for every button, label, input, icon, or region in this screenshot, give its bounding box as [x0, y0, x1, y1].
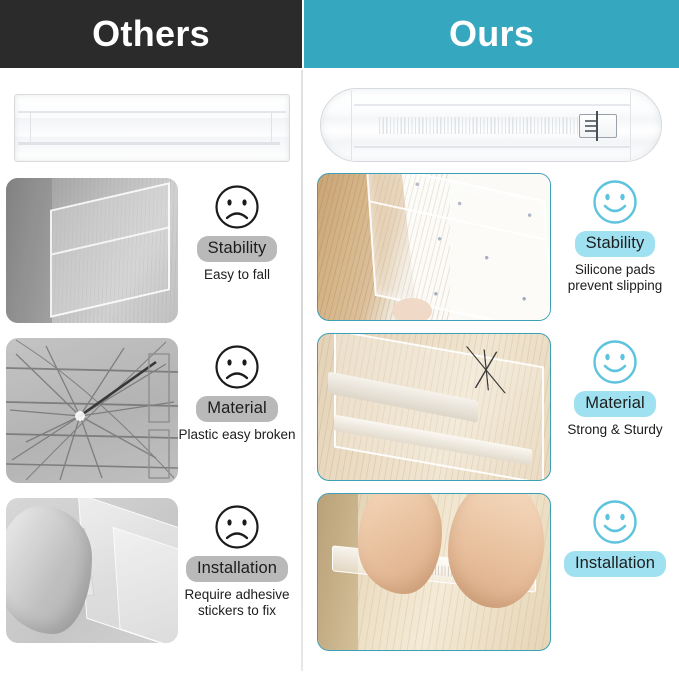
ours-material-badge: Material — [574, 391, 656, 417]
sad-face-icon — [214, 184, 260, 230]
divider-bottom-edge — [354, 146, 630, 148]
drawer-edge — [6, 178, 52, 323]
divider-ridges — [379, 117, 609, 134]
divider-right-cap — [630, 91, 631, 160]
ours-material-photo — [317, 333, 551, 481]
ours-installation-photo — [317, 493, 551, 651]
hand-grayscale — [6, 506, 92, 634]
others-hero-product-image — [14, 82, 290, 172]
header-others-title: Others — [92, 13, 210, 55]
divider-top-edge — [354, 104, 630, 106]
clear-divider — [366, 173, 551, 321]
others-stability-labels: Stability Easy to fall — [178, 178, 296, 283]
ours-stability-subtitle: Silicone pads prevent slipping — [553, 262, 677, 294]
ours-installation-labels: Installation — [553, 493, 677, 582]
crack-lines — [6, 338, 178, 483]
rounded-divider-illustration — [320, 88, 662, 162]
flat-divider-illustration — [14, 94, 290, 162]
ours-column: Stability Silicone pads prevent slipping — [303, 68, 679, 679]
flat-divider-left-segment — [19, 113, 31, 143]
sad-face-icon — [214, 344, 260, 390]
ours-material-subtitle: Strong & Sturdy — [553, 422, 677, 438]
others-installation-labels: Installation Require adhesive stickers t… — [178, 498, 296, 619]
ours-installation-badge: Installation — [564, 551, 666, 577]
ours-feature-row-installation: Installation — [303, 493, 677, 651]
smiley-face-icon — [592, 179, 638, 225]
sad-face-icon — [214, 504, 260, 550]
others-feature-row-installation: Installation Require adhesive stickers t… — [0, 498, 296, 643]
others-material-photo — [6, 338, 178, 483]
others-column: Stability Easy to fall — [0, 68, 301, 679]
divider-wall — [50, 182, 170, 318]
others-stability-photo — [6, 178, 178, 323]
others-feature-row-material: Material Plastic easy broken — [0, 338, 296, 483]
others-stability-badge: Stability — [197, 236, 278, 262]
silicone-pad — [392, 298, 432, 321]
others-stability-subtitle: Easy to fall — [178, 267, 296, 283]
ours-feature-row-stability: Stability Silicone pads prevent slipping — [303, 173, 677, 321]
others-installation-subtitle: Require adhesive stickers to fix — [178, 587, 296, 619]
others-installation-badge: Installation — [186, 556, 288, 582]
others-material-labels: Material Plastic easy broken — [178, 338, 296, 443]
others-feature-row-stability: Stability Easy to fall — [0, 178, 296, 323]
header-ours-title: Ours — [449, 13, 534, 55]
ours-material-labels: Material Strong & Sturdy — [553, 333, 677, 438]
others-material-badge: Material — [196, 396, 278, 422]
comparison-header: Others Ours — [0, 0, 679, 68]
divider-left-cap — [351, 91, 352, 160]
comparison-body: Stability Easy to fall — [0, 68, 679, 679]
ours-hero-product-image — [320, 78, 662, 173]
ours-stability-badge: Stability — [575, 231, 656, 257]
header-others-panel: Others — [0, 0, 302, 68]
smiley-face-icon — [592, 499, 638, 545]
others-material-subtitle: Plastic easy broken — [178, 427, 296, 443]
clip-lever — [596, 111, 598, 141]
ours-feature-row-material: Material Strong & Sturdy — [303, 333, 677, 481]
bottom-padding — [0, 671, 679, 679]
header-ours-panel: Ours — [304, 0, 679, 68]
others-installation-photo — [6, 498, 178, 643]
ours-stability-labels: Stability Silicone pads prevent slipping — [553, 173, 677, 294]
flat-divider-right-segment — [271, 113, 285, 143]
ours-stability-photo — [317, 173, 551, 321]
smiley-face-icon — [592, 339, 638, 385]
